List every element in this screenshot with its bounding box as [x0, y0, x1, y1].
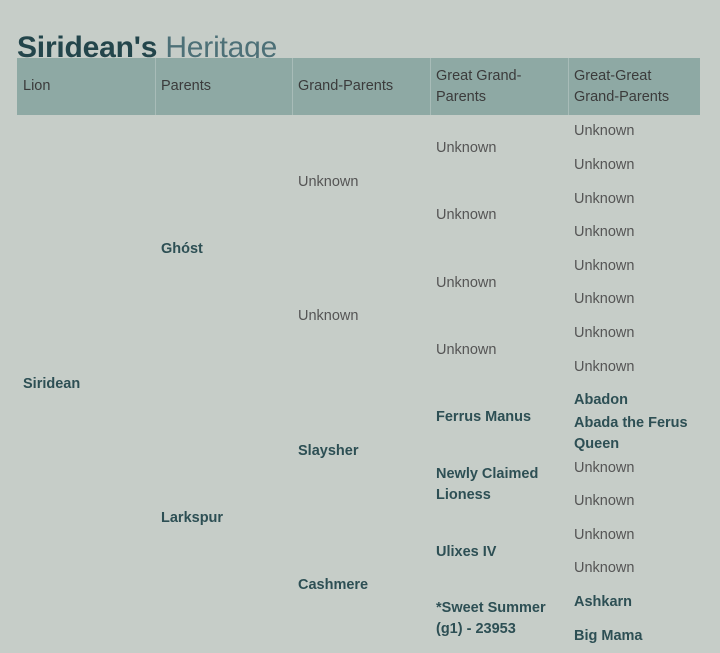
unknown-ancestor-cell: Unknown: [574, 216, 696, 250]
ancestor-label: Unknown: [574, 155, 634, 176]
ancestor-label: Unknown: [574, 323, 634, 344]
ancestor-label: Unknown: [574, 222, 634, 243]
ancestor-label: Cashmere: [298, 575, 368, 596]
generation-column-parents: GhóstLarkspur: [155, 115, 292, 653]
unknown-ancestor-cell: Unknown: [574, 451, 696, 485]
unknown-ancestor-cell: Unknown: [574, 350, 696, 384]
generation-column-great-great-grandparents: UnknownUnknownUnknownUnknownUnknownUnkno…: [568, 115, 700, 653]
ancestor-label: Big Mama: [574, 626, 643, 647]
lion-name-cell[interactable]: Ghóst: [161, 115, 288, 384]
lion-name-cell[interactable]: Slaysher: [298, 384, 426, 519]
lion-name-cell[interactable]: Ferrus Manus: [436, 384, 564, 451]
ancestor-label: Abadon: [574, 390, 628, 411]
column-header-great-great-grand-parents: Great-Great Grand-Parents: [568, 58, 700, 115]
ancestor-label: Siridean: [23, 374, 80, 395]
unknown-ancestor-cell: Unknown: [436, 115, 564, 182]
ancestor-label: Unknown: [574, 458, 634, 479]
unknown-ancestor-cell: Unknown: [436, 182, 564, 249]
lion-name-cell[interactable]: Ashkarn: [574, 586, 696, 620]
unknown-ancestor-cell: Unknown: [298, 250, 426, 385]
generation-column-lion: Siridean: [17, 115, 155, 653]
unknown-ancestor-cell: Unknown: [436, 317, 564, 384]
unknown-ancestor-cell: Unknown: [574, 115, 696, 149]
unknown-ancestor-cell: Unknown: [574, 552, 696, 586]
table-header-row: Lion Parents Grand-Parents Great Grand-P…: [17, 58, 700, 115]
column-header-grand-parents: Grand-Parents: [292, 58, 430, 115]
column-header-parents: Parents: [155, 58, 292, 115]
unknown-ancestor-cell: Unknown: [574, 283, 696, 317]
ancestor-label: Unknown: [298, 306, 358, 327]
ancestor-label: Unknown: [436, 273, 496, 294]
lion-name-cell[interactable]: Cashmere: [298, 519, 426, 653]
ancestor-label: Slaysher: [298, 441, 358, 462]
table-body: Siridean GhóstLarkspur UnknownUnknownSla…: [17, 115, 700, 653]
ancestor-label: Unknown: [574, 289, 634, 310]
heritage-table: Lion Parents Grand-Parents Great Grand-P…: [17, 58, 700, 653]
ancestor-label: Unknown: [436, 340, 496, 361]
ancestor-label: Ashkarn: [574, 592, 632, 613]
ancestor-label: *Sweet Summer (g1) - 23953: [436, 598, 564, 640]
ancestor-label: Unknown: [574, 558, 634, 579]
lion-name-cell[interactable]: Big Mama: [574, 619, 696, 653]
ancestor-label: Unknown: [574, 357, 634, 378]
lion-name-cell[interactable]: Siridean: [23, 115, 151, 653]
ancestor-label: Unknown: [574, 525, 634, 546]
lion-name-cell[interactable]: *Sweet Summer (g1) - 23953: [436, 586, 564, 653]
unknown-ancestor-cell: Unknown: [574, 485, 696, 519]
ancestor-label: Unknown: [574, 256, 634, 277]
ancestor-label: Ferrus Manus: [436, 407, 531, 428]
lion-name-cell[interactable]: Abada the Ferus Queen: [574, 418, 696, 452]
ancestor-label: Unknown: [436, 138, 496, 159]
column-header-great-grand-parents: Great Grand-Parents: [430, 58, 568, 115]
ancestor-label: Unknown: [436, 205, 496, 226]
generation-column-grandparents: UnknownUnknownSlaysherCashmere: [292, 115, 430, 653]
unknown-ancestor-cell: Unknown: [574, 317, 696, 351]
ancestor-label: Ghóst: [161, 239, 203, 260]
generation-column-great-grandparents: UnknownUnknownUnknownUnknownFerrus Manus…: [430, 115, 568, 653]
unknown-ancestor-cell: Unknown: [574, 519, 696, 553]
ancestor-label: Unknown: [574, 121, 634, 142]
unknown-ancestor-cell: Unknown: [574, 182, 696, 216]
ancestor-label: Unknown: [574, 491, 634, 512]
ancestor-label: Unknown: [574, 189, 634, 210]
unknown-ancestor-cell: Unknown: [574, 250, 696, 284]
unknown-ancestor-cell: Unknown: [436, 250, 564, 317]
ancestor-label: Larkspur: [161, 508, 223, 529]
lion-name-cell[interactable]: Ulixes IV: [436, 519, 564, 586]
unknown-ancestor-cell: Unknown: [298, 115, 426, 250]
ancestor-label: Abada the Ferus Queen: [574, 413, 696, 455]
ancestor-label: Newly Claimed Lioness: [436, 464, 564, 506]
lion-name-cell[interactable]: Newly Claimed Lioness: [436, 451, 564, 518]
unknown-ancestor-cell: Unknown: [574, 149, 696, 183]
lion-name-cell[interactable]: Larkspur: [161, 384, 288, 653]
column-header-lion: Lion: [17, 58, 155, 115]
ancestor-label: Ulixes IV: [436, 542, 496, 563]
ancestor-label: Unknown: [298, 172, 358, 193]
